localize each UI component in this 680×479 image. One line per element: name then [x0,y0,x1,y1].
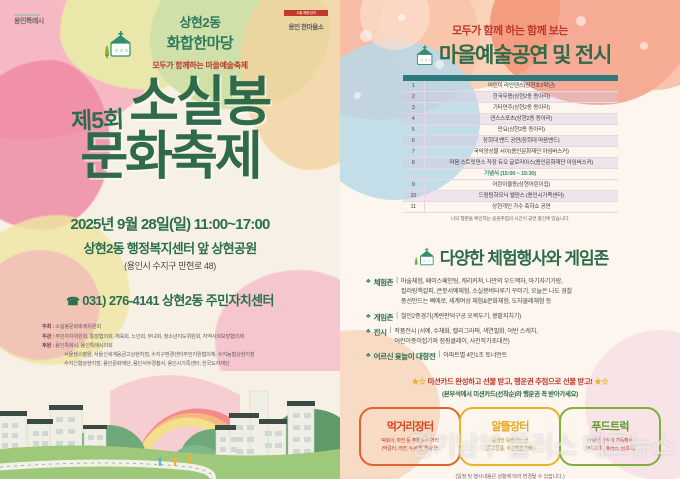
program-name: 상현개인 가수 축하쇼 공연 [425,201,618,212]
experience-body: 철인2종경기(계란판덕구공 오목두기, 콩팥지치기) [401,312,521,322]
clover-bullet-icon: ♣ [366,313,371,320]
program-no: 7 [403,146,425,157]
box-title: 알뜰장터 [465,418,555,434]
village-center-logo-label: 용인 한마을소 [289,24,324,31]
telephone-icon: ☎ [66,296,79,308]
program-name: 댄스스포츠(상현2동 동아리) [425,113,618,124]
program-no: 8 [403,157,425,168]
program-no: 4 [403,113,425,124]
disclaimer-note: (일정 및 행사내용은 상황에 따라 변경될 수 있습니다.) [352,473,668,479]
credit-label: 주최 : [42,324,54,330]
experience-body: 마술체험, 페이스페인팅, 캐리커쳐, 나만의 우드액자, 아기자기가랑, 컬러… [401,277,572,308]
ceremony-row: 기념식 (15:00 ~ 15:30) [403,168,618,179]
box-desc-line: 떡볶이, 파전 등 푸짐한 먹거리 [381,439,438,444]
table-row: 5 민요(상현2동 동아리) [403,124,618,135]
program-no: 2 [403,91,425,102]
program-no: 10 [403,190,425,201]
festival-poster: 용인특례시 소통·화합·참여 용인 한마을소 상현2동 화합한마당 모두가 함께… [0,0,680,479]
credit-row: 서울샘스병원, 서울신세계음금고상현지점, 수지구환경센터주민지원협의체, 수지… [42,351,340,360]
table-row: 6 장희대 밴드 공연(장희대 마음밴드) [403,135,618,146]
logo-bar [14,14,40,16]
event-venue: 상현2동 행정복지센터 앞 상현공원 [0,238,340,257]
box-desc-line: (중고물품, 수공예품 판매) [485,447,534,452]
separator: | [438,351,440,358]
credit-label: 후원 : [42,343,54,349]
credit-text: 수지신협상현지점, 용인문화재단, 용인서부경찰서, 용인시가족센터, 한국도자… [64,361,229,367]
title-line-1: 소실봉 [129,77,269,128]
separator: | [396,312,398,319]
credit-row: 주관 : 주민자치위원회, 통장협의회, 체육회, 노인회, 부녀회, 청소년지… [42,333,340,342]
yongin-city-logo: 용인특례시 [14,14,44,26]
box-food-market: 먹거리장터 떡볶이, 파전 등 푸짐한 먹거리 (막걸리, 라면, 부침개, 해… [359,407,461,466]
program-name: 어린이 라인댄스(상현초2학년) [425,81,618,91]
table-row: 1 어린이 라인댄스(상현초2학년) [403,81,618,91]
experience-line: 컬러링책갈피, 큰붓서예체험, 소실봉버터루기 꾸미기, 오늘은 나도 경찰 [401,288,572,295]
separator: | [390,327,392,334]
experience-label: 게임존 [374,312,394,323]
program-note: 나의 행운을 확인하는 응원추첨의 시간이 공연 중간에 있습니다. [403,215,618,222]
city-skyline-illustration [0,371,340,479]
table-row: 7 국악앙상블 서이(용인문화재단 아임버스커) [403,146,618,157]
contact-number: 031) 276-4141 상현2동 주민자치센터 [82,293,274,308]
separator: | [396,277,398,284]
credit-row: 후원 : 용인특례시, 용인특례시의회 [42,342,340,351]
credit-text: 용인특례시, 용인특례시의회 [55,343,112,349]
table-row: 2 한국무용(상현2동 동아리) [403,91,618,102]
clover-bullet-icon: ♣ [366,352,371,359]
list-item: ♣ 게임존 | 철인2종경기(계란판덕구공 오목두기, 콩팥지치기) [366,312,668,323]
box-title: 먹거리장터 [365,418,455,434]
experience-list: ♣ 체험존 | 마술체험, 페이스페인팅, 캐리커쳐, 나만의 우드액자, 아기… [366,277,668,362]
mission-card-subtext: (본부석에서 미션카드(선착순)와 행운권 꼭 받아가세요) [352,389,668,398]
program-name: 한국무용(상현2동 동아리) [425,91,618,102]
box-title: 푸드트럭 [565,418,655,434]
credit-row: 주최 : 소실봉문화축제위원회 [42,323,340,332]
market-boxes: 먹거리장터 떡볶이, 파전 등 푸짐한 먹거리 (막걸리, 라면, 부침개, 해… [352,407,668,466]
credit-text: 소실봉문화축제위원회 [55,324,101,330]
church-illustration-icon [412,245,436,269]
program-no: 6 [403,135,425,146]
program-table-body: 1 어린이 라인댄스(상현초2학년) 2 한국무용(상현2동 동아리) 3 기타… [403,81,618,212]
table-row: 4 댄스스포츠(상현2동 동아리) [403,113,618,124]
program-name: 어린이율동(상현어린이집) [425,179,618,190]
mission-card-line: ★☆ 미션카드 완성하고 선물 받고, 행운권 추첨으로 선물 받고! ★☆ [352,376,668,387]
experience-body: 작품전시 (서예, 수채화, 캘리그라픽, 색연필화, 어반 스케치, 어린이종… [394,327,537,347]
box-food-truck: 푸드트럭 다양한 간식이 가득해서 (어묵꼬치, 츄러스, 닭꼬치) [559,407,661,466]
village-center-logo: 소통·화합·참여 용인 한마을소 [284,10,328,34]
star-icon-right: ★☆ [594,377,608,386]
church-illustration-icon [409,43,435,69]
table-row: 8 마음 스트릿댄스 작장 듀오 글로리아스(용인문화재단 아임버스커) [403,157,618,168]
box-desc-line: 알뜰한 득템하는 날 [492,439,529,444]
event-datetime: 2025년 9월 28일(일) 11:00~17:00 [0,213,340,234]
box-flea-market: 알뜰장터 알뜰한 득템하는 날 (중고물품, 수공예품 판매) [459,407,561,466]
ceremony-label: 기념식 (15:00 ~ 15:30) [403,168,618,179]
experience-line: 철인2종경기(계란판덕구공 오목두기, 콩팥지치기) [401,313,521,320]
decorative-dot [398,14,405,21]
credits-block: 주최 : 소실봉문화축제위원회 주관 : 주민자치위원회, 통장협의회, 체육회… [42,323,340,368]
program-no: 9 [403,179,425,190]
experience-line: 풍선만드는 삐에로, 세계여성 체험&문화체험, 도자물레체험 등 [401,298,551,305]
experience-line: 아파트별 4인1조 토너먼트 [443,352,507,359]
table-row: 3 기타연주(상현2동 동아리) [403,102,618,113]
village-center-logo-bar: 소통·화합·참여 [284,10,328,16]
experience-label: 어르신 윷놀이 대항전 [374,351,436,362]
credit-text: 서울샘스병원, 서울신세계음금고상현지점, 수지구환경센터주민지원협의체, 수지… [64,352,254,358]
contact-line: ☎ 031) 276-4141 상현2동 주민자치센터 [0,290,340,309]
program-no: 3 [403,102,425,113]
box-desc: 알뜰한 득템하는 날 (중고물품, 수공예품 판매) [465,438,555,454]
experience-body: 아파트별 4인1조 토너먼트 [443,351,507,361]
title-ordinal: 제5회 [70,101,123,137]
list-item: ♣ 체험존 | 마술체험, 페이스페인팅, 캐리커쳐, 나만의 우드액자, 아기… [366,277,668,308]
program-table: 1 어린이 라인댄스(상현초2학년) 2 한국무용(상현2동 동아리) 3 기타… [403,75,618,213]
credit-text: 주민자치위원회, 통장협의회, 체육회, 노인회, 부녀회, 청소년지도위원회,… [55,334,244,340]
program-name: 장희대 밴드 공연(장희대 마음밴드) [425,135,618,146]
program-no: 5 [403,124,425,135]
experience-title-row: 다양한 체험행사와 게임존 [352,244,668,269]
table-row: 10 드림팅하모닉 벨댄스 (용인시가족센터) [403,190,618,201]
program-name: 마음 스트릿댄스 작장 듀오 글로리아스(용인문화재단 아임버스커) [425,157,618,168]
clover-bullet-icon: ♣ [366,328,371,335]
table-row: 9 어린이율동(상현어린이집) [403,179,618,190]
experience-line: 작품전시 (서예, 수채화, 캘리그라픽, 색연필화, 어반 스케치, [394,328,537,335]
box-desc-line: 다양한 간식이 가득해서 [587,439,632,444]
list-item: ♣ 어르신 윷놀이 대항전 | 아파트별 4인1조 토너먼트 [366,351,668,362]
program-no: 1 [403,81,425,91]
experience-label: 체험존 [374,277,394,288]
program-title-row: 마을예술공연 및 전시 [352,39,668,69]
church-illustration-icon [100,28,134,62]
title-line-2: 문화축제 [0,131,340,183]
box-desc: 다양한 간식이 가득해서 (어묵꼬치, 츄러스, 닭꼬치) [565,438,655,454]
left-content: 상현2동 화합한마당 모두가 함께하는 마을예술축제 제5회 소실봉 문화축제 … [0,14,340,369]
table-row: 11 상현개인 가수 축하쇼 공연 [403,201,618,212]
experience-line: 마술체험, 페이스페인팅, 캐리커쳐, 나만의 우드액자, 아기자기가랑, [401,278,563,285]
program-name: 민요(상현2동 동아리) [425,124,618,135]
experience-label: 전시 [374,327,387,338]
program-name: 기타연주(상현2동 동아리) [425,102,618,113]
box-desc-line: (막걸리, 라면, 부침개, 해장국) [381,447,438,452]
credit-row: 수지신협상현지점, 용인문화재단, 용인서부경찰서, 용인시가족센터, 한국도자… [42,360,340,369]
program-no: 11 [403,201,425,212]
yongin-city-logo-label: 용인특례시 [14,18,44,25]
program-title: 마을예술공연 및 전시 [439,39,611,69]
right-panel: 모두가 함께 하는 함께 보는 마을예술공연 및 전시 [340,0,680,479]
event-address: (용인시 수지구 만현로 48) [0,259,340,272]
right-content: 모두가 함께 하는 함께 보는 마을예술공연 및 전시 [340,22,680,479]
box-desc-line: (어묵꼬치, 츄러스, 닭꼬치) [585,447,636,452]
experience-title: 다양한 체험행사와 게임존 [440,244,609,269]
left-panel: 용인특례시 소통·화합·참여 용인 한마을소 상현2동 화합한마당 모두가 함께… [0,0,340,479]
program-kicker: 모두가 함께 하는 함께 보는 [352,22,668,38]
subtitle-line-3: 모두가 함께하는 마을예술축제 [152,60,248,72]
poster-title: 제5회 소실봉 문화축제 [0,77,340,183]
clover-bullet-icon: ♣ [366,278,371,285]
list-item: ♣ 전시 | 작품전시 (서예, 수채화, 캘리그라픽, 색연필화, 어반 스케… [366,327,668,347]
mission-card-text: 미션카드 완성하고 선물 받고, 행운권 추첨으로 선물 받고! [427,377,592,386]
star-icon-left: ★☆ [412,377,426,386]
experience-line: 어린이종이접기와 점핑클레이, 사진작가초대전) [394,338,509,345]
box-desc: 떡볶이, 파전 등 푸짐한 먹거리 (막걸리, 라면, 부침개, 해장국) [365,438,455,454]
credit-label: 주관 : [42,334,54,340]
program-name: 드림팅하모닉 벨댄스 (용인시가족센터) [425,190,618,201]
program-name: 국악앙상블 서이(용인문화재단 아임버스커) [425,146,618,157]
